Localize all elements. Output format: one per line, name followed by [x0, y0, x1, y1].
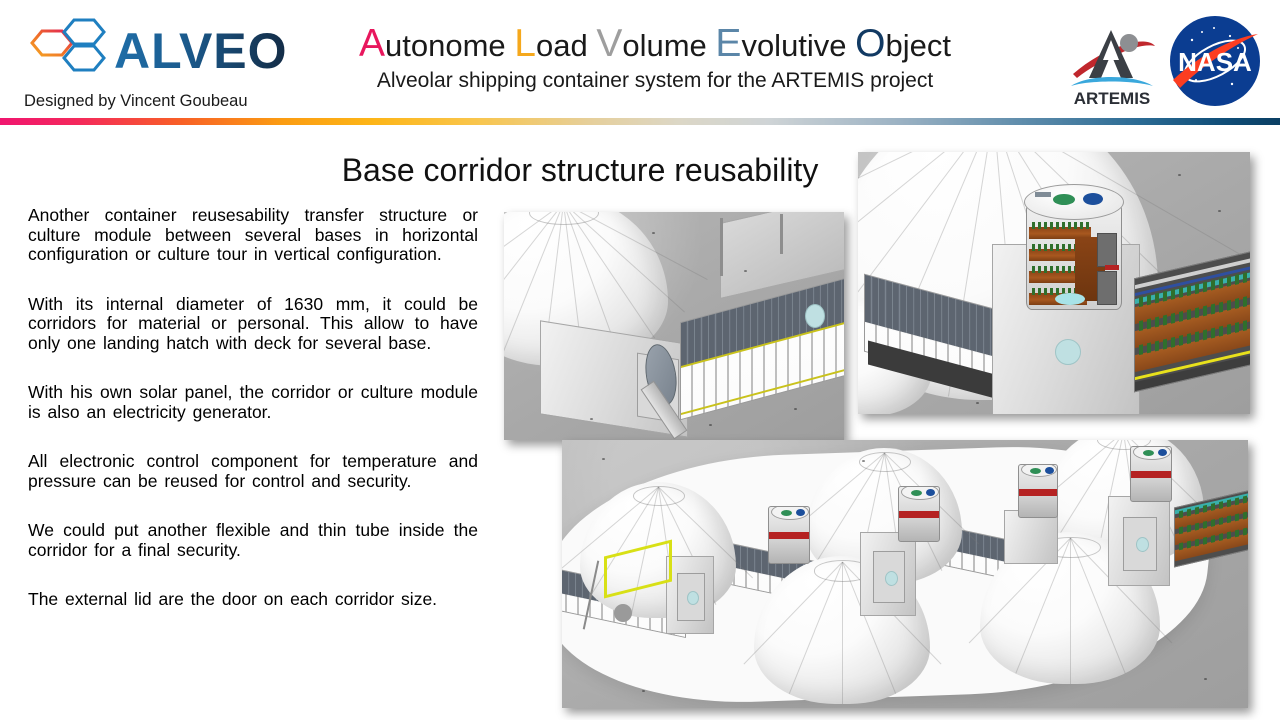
tower-lid [1024, 184, 1124, 220]
acronym-rest-l: oad [536, 28, 588, 63]
hub-box [666, 556, 714, 634]
render-corridor-docked-to-dome [504, 212, 844, 440]
artemis-logo-icon: ARTEMIS [1063, 16, 1161, 108]
nasa-logo-text: NASA [1178, 47, 1252, 77]
equipment-rack [1097, 271, 1117, 305]
mast-pole [780, 214, 783, 254]
acronym-rest-v: olume [622, 28, 706, 63]
hub-box [1108, 496, 1170, 586]
artemis-logo-text: ARTEMIS [1074, 89, 1151, 108]
hub-box [1004, 510, 1058, 564]
paragraph-1: Another container reusesability transfer… [28, 206, 478, 265]
page-title: Base corridor structure reusability [300, 152, 860, 189]
container-pod [1018, 464, 1058, 518]
paragraph-5: We could put another flexible and thin t… [28, 521, 478, 560]
hub-porthole [1055, 339, 1081, 365]
paragraph-2: With its internal diameter of 1630 mm, i… [28, 295, 478, 354]
header-subtitle: Alveolar shipping container system for t… [330, 66, 980, 96]
paragraph-3: With his own solar panel, the corridor o… [28, 383, 478, 422]
alveo-hexagon-logo-icon [28, 18, 110, 84]
mast-pole [720, 218, 723, 276]
hub-box [860, 532, 916, 616]
acronym-rest-a: utonome [385, 28, 506, 63]
container-pod [1130, 446, 1172, 502]
container-pod [898, 486, 940, 542]
brand-logo-block: ALVEO Designed by Vincent Goubeau [22, 14, 292, 109]
header-title-block: Autonome Load Volume Evolutive Object Al… [330, 24, 980, 96]
acronym-rest-o: bject [886, 28, 951, 63]
acronym-cap-o: O [855, 22, 885, 65]
header-gradient-divider [0, 118, 1280, 125]
nasa-logo-icon: NASA [1168, 14, 1262, 108]
tower-water-basin [1055, 293, 1085, 305]
alveo-wordmark: ALVEO [114, 26, 288, 76]
designer-credit: Designed by Vincent Goubeau [24, 92, 248, 111]
acronym-title: Autonome Load Volume Evolutive Object [330, 24, 980, 66]
acronym-cap-v: V [596, 22, 622, 65]
render-vertical-culture-tower [858, 152, 1250, 414]
acronym-cap-l: L [514, 22, 536, 65]
page-header: ALVEO Designed by Vincent Goubeau Autono… [0, 0, 1280, 118]
rover-wheel [614, 604, 632, 622]
acronym-rest-e: volutive [741, 28, 846, 63]
container-pod [768, 506, 810, 564]
render-base-layout-overview [562, 440, 1248, 708]
equipment-rack [1097, 233, 1117, 267]
body-text-column: Another container reusesability transfer… [28, 206, 478, 610]
corridor-porthole [805, 304, 825, 328]
acronym-cap-a: A [359, 22, 385, 65]
paragraph-6: The external lid are the door on each co… [28, 590, 478, 610]
paragraph-4: All electronic control component for tem… [28, 452, 478, 491]
acronym-cap-e: E [715, 22, 741, 65]
